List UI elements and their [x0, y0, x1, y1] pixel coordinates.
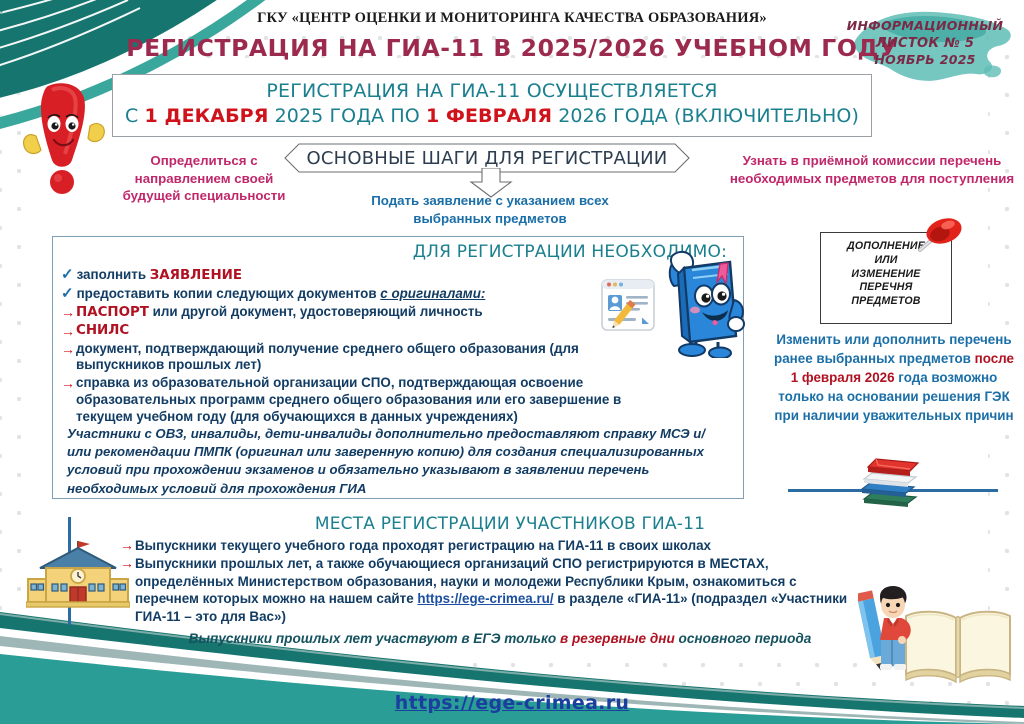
pushpin-icon: [912, 216, 964, 267]
dates-line-1: РЕГИСТРАЦИЯ НА ГИА-11 ОСУЩЕСТВЛЯЕТСЯ: [119, 80, 865, 103]
step-left-text: Определиться с направлением своей будуще…: [104, 152, 304, 205]
reserve-part-b: основного периода: [675, 631, 812, 646]
school-building-icon: [26, 535, 130, 620]
exclamation-mark-mascot-icon: [10, 78, 120, 208]
dates-start-highlight: 1 ДЕКАБРЯ: [145, 105, 269, 127]
step-right-text: Узнать в приёмной комиссии перечень необ…: [728, 152, 1016, 187]
bulletin-line-3: НОЯБРЬ 2025: [840, 52, 1010, 69]
special-conditions-note: Участники с ОВЗ, инвалиды, дети-инвалиды…: [67, 425, 727, 498]
dates-middle: 2025 ГОДА ПО: [268, 105, 426, 127]
requirement-6: справка из образовательной организации С…: [76, 375, 661, 426]
requirement-4: СНИЛС: [76, 323, 129, 340]
arrow-icon: →: [61, 375, 75, 392]
requirement-2: предоставить копии следующих документов …: [77, 286, 486, 303]
list-item: → Выпускники прошлых лет, а также обучаю…: [120, 555, 860, 626]
pinbox-line-4: ПЕРЕЧНЯ: [821, 281, 951, 295]
list-item: → СНИЛС: [61, 323, 661, 340]
dates-suffix: 2026 ГОДА (ВКЛЮЧИТЕЛЬНО): [552, 105, 859, 127]
requirement-1: заполнить ЗАЯВЛЕНИЕ: [77, 267, 242, 285]
places-title: МЕСТА РЕГИСТРАЦИИ УЧАСТНИКОВ ГИА-11: [160, 514, 860, 534]
dates-line-2: С 1 ДЕКАБРЯ 2025 ГОДА ПО 1 ФЕВРАЛЯ 2026 …: [119, 105, 865, 129]
list-item: ✓ предоставить копии следующих документо…: [61, 286, 661, 303]
pinbox-line-3: ИЗМЕНЕНИЕ: [821, 268, 951, 282]
reserve-part-a: Выпускники прошлых лет участвуют в ЕГЭ т…: [189, 631, 560, 646]
requirements-list: ✓ заполнить ЗАЯВЛЕНИЕ ✓ предоставить коп…: [61, 267, 661, 427]
places-item-2: Выпускники прошлых лет, а также обучающи…: [135, 555, 860, 626]
requirement-3: ПАСПОРТ или другой документ, удостоверяю…: [76, 304, 483, 322]
list-item: ✓ заполнить ЗАЯВЛЕНИЕ: [61, 267, 661, 285]
bulletin-info: ИНФОРМАЦИОННЫЙ ЛИСТОК № 5 НОЯБРЬ 2025: [840, 18, 1010, 69]
book-mascot-icon: [648, 240, 748, 363]
list-item: → ПАСПОРТ или другой документ, удостовер…: [61, 304, 661, 322]
places-body: → Выпускники текущего учебного года прох…: [120, 537, 860, 626]
site-url[interactable]: https://ege-crimea.ru: [0, 692, 1024, 714]
pinbox-line-5: ПРЕДМЕТОВ: [821, 295, 951, 309]
list-item: → справка из образовательной организации…: [61, 375, 661, 426]
list-item: → документ, подтверждающий получение сре…: [61, 341, 661, 375]
boy-with-pencil-icon: [858, 578, 924, 679]
arrow-icon: →: [61, 323, 75, 340]
list-item: → Выпускники текущего учебного года прох…: [120, 537, 860, 555]
reserve-days-note: Выпускники прошлых лет участвуют в ЕГЭ т…: [120, 630, 880, 648]
poster-root: ГКУ «ЦЕНТР ОЦЕНКИ И МОНИТОРИНГА КАЧЕСТВА…: [0, 0, 1024, 724]
ege-crimea-link[interactable]: https://ege-crimea.ru/: [417, 591, 553, 606]
bulletin-line-2: ЛИСТОК № 5: [840, 35, 1010, 52]
step-center-text: Подать заявление с указанием всех выбран…: [340, 192, 640, 228]
arrow-icon: →: [61, 341, 75, 358]
places-item-1: Выпускники текущего учебного года проход…: [135, 537, 711, 555]
bulletin-line-1: ИНФОРМАЦИОННЫЙ: [840, 18, 1010, 35]
check-icon: ✓: [61, 267, 74, 284]
dates-prefix: С: [125, 105, 145, 127]
reserve-highlight: в резервные дни: [560, 631, 675, 646]
registration-dates-banner: РЕГИСТРАЦИЯ НА ГИА-11 ОСУЩЕСТВЛЯЕТСЯ С 1…: [112, 74, 872, 137]
requirement-5: документ, подтверждающий получение средн…: [76, 341, 661, 375]
check-icon: ✓: [61, 286, 74, 303]
requirements-box: ДЛЯ РЕГИСТРАЦИИ НЕОБХОДИМО: ✓ заполнить …: [52, 236, 744, 499]
dates-end-highlight: 1 ФЕВРАЛЯ: [426, 105, 552, 127]
arrow-icon: →: [61, 304, 75, 321]
book-stack-icon: [856, 455, 928, 518]
subject-change-note: Изменить или дополнить перечень ранее вы…: [770, 330, 1018, 425]
